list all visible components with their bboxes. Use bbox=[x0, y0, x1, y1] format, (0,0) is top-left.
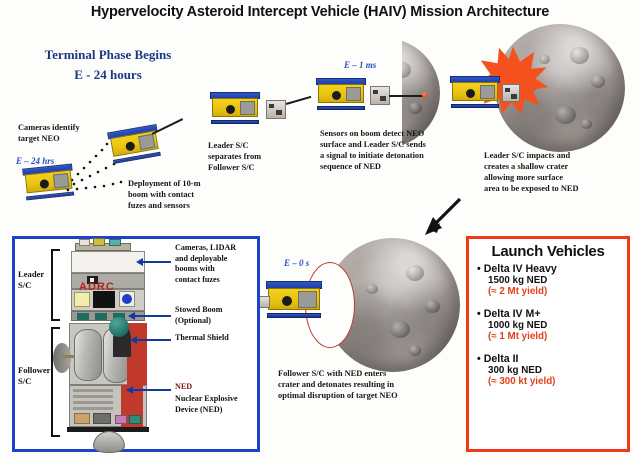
launch-vehicle-yield: (≈ 300 kt yield) bbox=[477, 376, 627, 387]
launch-vehicle-item: •Delta IV Heavy 1500 kg NED (≈ 2 Mt yiel… bbox=[469, 263, 627, 297]
launch-vehicle-mass: 1500 kg NED bbox=[477, 275, 627, 286]
boom-line-2 bbox=[286, 96, 311, 105]
terminal-phase-time: E - 24 hours bbox=[18, 66, 198, 84]
spacecraft-cutaway-drawing bbox=[65, 243, 151, 445]
caption-boom-deployment: Deployment of 10-m boom with contact fuz… bbox=[128, 178, 226, 211]
label-follower-sc: Follower S/C bbox=[18, 365, 56, 386]
annotation-thermal-shield: Thermal Shield bbox=[175, 333, 263, 344]
spacecraft-body-text: ADRC bbox=[79, 281, 115, 293]
arrow-cameras-lidar bbox=[143, 261, 171, 263]
bullet-icon: • bbox=[477, 308, 481, 320]
annotation-stowed-boom: Stowed Boom (Optional) bbox=[175, 305, 261, 326]
boom-contact-tip bbox=[422, 92, 428, 98]
launch-vehicle-yield: (≈ 2 Mt yield) bbox=[477, 286, 627, 297]
caption-leader-impact: Leader S/C impacts and creates a shallow… bbox=[484, 150, 634, 194]
bullet-icon: • bbox=[477, 353, 481, 365]
time-label-0s: E – 0 s bbox=[284, 258, 309, 268]
launch-vehicle-name: •Delta IV M+ bbox=[477, 308, 627, 320]
annotation-ned-short: NED bbox=[175, 382, 235, 393]
leader-module-icon-sep bbox=[266, 100, 286, 119]
arrow-stowed-boom bbox=[135, 315, 171, 317]
arrow-thermal-shield bbox=[137, 339, 171, 341]
launch-vehicles-panel: Launch Vehicles •Delta IV Heavy 1500 kg … bbox=[466, 236, 630, 452]
leader-module-icon-5 bbox=[502, 84, 520, 102]
arrow-ned bbox=[133, 389, 171, 391]
page-title: Hypervelocity Asteroid Intercept Vehicle… bbox=[0, 4, 640, 20]
caption-separation: Leader S/C separates from Follower S/C bbox=[208, 140, 312, 173]
bullet-icon: • bbox=[477, 263, 481, 275]
launch-vehicle-mass: 1000 kg NED bbox=[477, 320, 627, 331]
caption-sensors-detect: Sensors on boom detect NEO surface and L… bbox=[320, 128, 468, 172]
spacecraft-icon-follower-sep bbox=[212, 98, 258, 124]
spacecraft-icon-follower-5 bbox=[452, 82, 498, 108]
caption-follower-detonation: Follower S/C with NED enters crater and … bbox=[278, 368, 454, 401]
time-label-24hrs: E – 24 hrs bbox=[16, 156, 54, 166]
spacecraft-cutaway-box: Leader S/C Follower S/C bbox=[12, 236, 260, 452]
arrow-icon-transition bbox=[420, 196, 464, 238]
launch-vehicle-item: •Delta IV M+ 1000 kg NED (≈ 1 Mt yield) bbox=[469, 308, 627, 342]
launch-vehicles-title: Launch Vehicles bbox=[469, 243, 627, 260]
brace-leader bbox=[51, 249, 60, 321]
time-label-1ms: E – 1 ms bbox=[344, 60, 376, 70]
diagram-canvas: Hypervelocity Asteroid Intercept Vehicle… bbox=[0, 0, 640, 465]
launch-vehicle-name: •Delta II bbox=[477, 353, 627, 365]
spacecraft-icon-follower-6 bbox=[268, 288, 320, 318]
spacecraft-icon-2 bbox=[110, 130, 160, 164]
spacecraft-icon-follower-4 bbox=[318, 84, 364, 110]
launch-vehicle-mass: 300 kg NED bbox=[477, 365, 627, 376]
launch-vehicle-item: •Delta II 300 kg NED (≈ 300 kt yield) bbox=[469, 353, 627, 387]
label-leader-sc: Leader S/C bbox=[18, 269, 52, 290]
annotation-cameras-lidar: Cameras, LIDAR and deployable booms with… bbox=[175, 243, 261, 286]
terminal-phase-title: Terminal Phase Begins bbox=[18, 46, 198, 64]
spacer bbox=[469, 299, 627, 308]
boom-line-3 bbox=[389, 95, 425, 97]
launch-vehicle-yield: (≈ 1 Mt yield) bbox=[477, 331, 627, 342]
spacer bbox=[469, 344, 627, 353]
annotation-ned-long: Nuclear Explosive Device (NED) bbox=[175, 394, 261, 415]
leader-module-icon-4 bbox=[370, 86, 390, 105]
launch-vehicle-name: •Delta IV Heavy bbox=[477, 263, 627, 275]
spacecraft-icon-1 bbox=[25, 170, 73, 201]
